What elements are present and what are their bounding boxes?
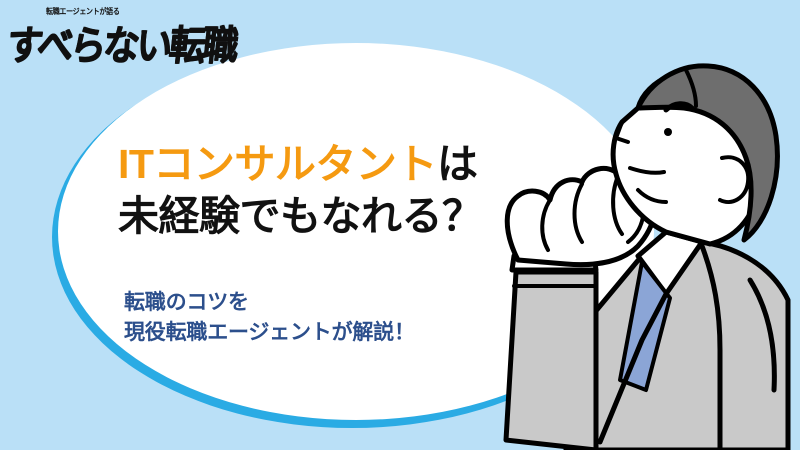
forearm-sleeve-shape [506, 272, 596, 450]
thinking-businessman-svg [470, 50, 800, 450]
subtitle-line-2: 現役転職エージェントが解説！ [124, 318, 415, 348]
headline-line-1: ITコンサルタントは [118, 138, 483, 190]
headline-block: ITコンサルタントは 未経験でもなれる？ [118, 138, 483, 243]
headline-highlight: ITコンサルタント [118, 141, 437, 187]
eyecatch-banner: 転職エージェントが語る すべらない転職 ITコンサルタントは 未経験でもなれる？… [0, 0, 800, 450]
logo-main-text: すべらない転職 [4, 13, 239, 71]
site-logo[interactable]: 転職エージェントが語る すべらない転職 [10, 4, 210, 58]
eye-dot [664, 128, 672, 136]
thinking-businessman-illustration [470, 50, 800, 450]
headline-line-2: 未経験でもなれる？ [118, 190, 483, 242]
subtitle-block: 転職のコツを 現役転職エージェントが解説！ [124, 288, 415, 349]
subtitle-line-1: 転職のコツを [124, 288, 415, 318]
